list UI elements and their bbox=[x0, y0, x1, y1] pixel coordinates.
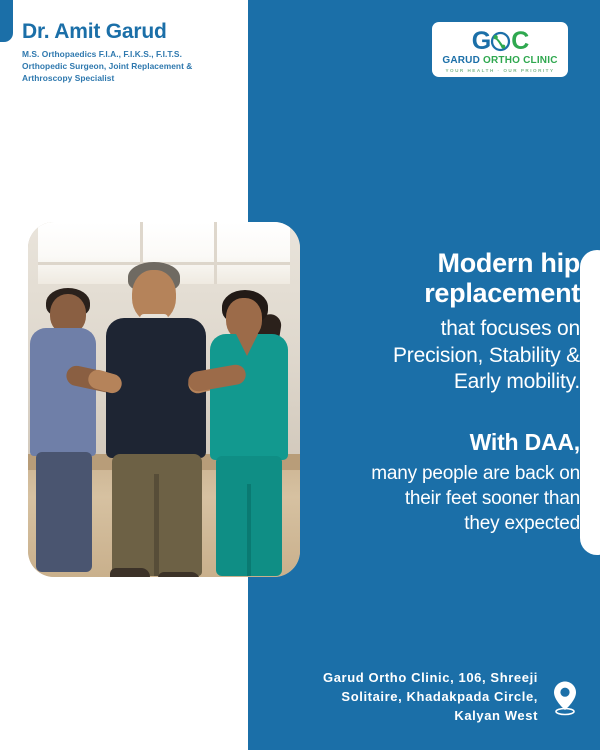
credentials-line-1: M.S. Orthopaedics F.I.A., F.I.K.S., F.I.… bbox=[22, 49, 182, 59]
subheadline: that focuses on Precision, Stability & E… bbox=[300, 316, 580, 395]
logo-letter-g: G bbox=[472, 29, 490, 54]
nurse-left-legs bbox=[36, 452, 92, 572]
daa-line-2: their feet sooner than bbox=[405, 488, 580, 509]
subhead-line-1: that focuses on bbox=[441, 317, 580, 340]
credentials-line-2: Orthopedic Surgeon, Joint Replacement & bbox=[22, 61, 192, 71]
footer-address-block: Garud Ortho Clinic, 106, Shreeji Solitai… bbox=[270, 669, 580, 726]
logo-letter-c: C bbox=[511, 29, 528, 54]
location-pin-icon bbox=[550, 680, 580, 716]
poster-root: Dr. Amit Garud M.S. Orthopaedics F.I.A.,… bbox=[0, 0, 600, 750]
patient-shoe-left bbox=[110, 568, 150, 577]
patient-shoe-right bbox=[158, 572, 200, 577]
doctor-credentials: M.S. Orthopaedics F.I.A., F.I.K.S., F.I.… bbox=[22, 48, 237, 85]
logo-tagline: YOUR HEALTH · OUR PRIORITY bbox=[445, 68, 554, 73]
headline: Modern hip replacement bbox=[300, 248, 580, 308]
subhead-line-2: Precision, Stability & bbox=[393, 344, 580, 367]
logo-bone-mark-icon bbox=[490, 31, 511, 52]
doctor-header: Dr. Amit Garud M.S. Orthopaedics F.I.A.,… bbox=[22, 20, 237, 85]
nurse-right-leg-split bbox=[247, 484, 251, 576]
address-line-1: Garud Ortho Clinic, 106, Shreeji bbox=[323, 670, 538, 685]
logo-clinic-word-2: ORTHO CLINIC bbox=[483, 55, 558, 66]
daa-body: many people are back on their feet soone… bbox=[300, 462, 580, 536]
window-mullion-vertical-1 bbox=[140, 222, 143, 264]
nurse-left-body bbox=[30, 328, 96, 456]
credentials-line-3: Arthroscopy Specialist bbox=[22, 73, 114, 83]
window-mullion-vertical-2 bbox=[214, 222, 217, 284]
logo-clinic-word-1: GARUD bbox=[442, 55, 480, 66]
headline-line-2: replacement bbox=[424, 278, 580, 308]
clinic-address: Garud Ortho Clinic, 106, Shreeji Solitai… bbox=[323, 669, 538, 726]
logo-clinic-name: GARUD ORTHO CLINIC bbox=[442, 55, 557, 66]
logo-monogram: G C bbox=[472, 30, 529, 53]
daa-title: With DAA, bbox=[300, 429, 580, 456]
subhead-line-3: Early mobility. bbox=[454, 370, 580, 393]
clinic-logo-card: G C GARUD ORTHO CLINIC YOUR HEALTH · OUR… bbox=[432, 22, 568, 77]
left-accent-tab bbox=[0, 0, 13, 42]
nurse-right-body bbox=[210, 334, 288, 460]
photo-scene bbox=[28, 222, 300, 577]
daa-line-3: they expected bbox=[464, 513, 580, 534]
daa-line-1: many people are back on bbox=[371, 463, 580, 484]
patient-trouser-split bbox=[154, 474, 159, 576]
address-line-2: Solitaire, Khadakpada Circle, bbox=[341, 689, 538, 704]
panel-right-notch bbox=[580, 250, 600, 555]
doctor-name: Dr. Amit Garud bbox=[22, 20, 237, 43]
clinic-photo bbox=[28, 222, 300, 577]
marketing-copy: Modern hip replacement that focuses on P… bbox=[300, 248, 580, 536]
headline-line-1: Modern hip bbox=[438, 248, 580, 278]
address-line-3: Kalyan West bbox=[454, 708, 538, 723]
